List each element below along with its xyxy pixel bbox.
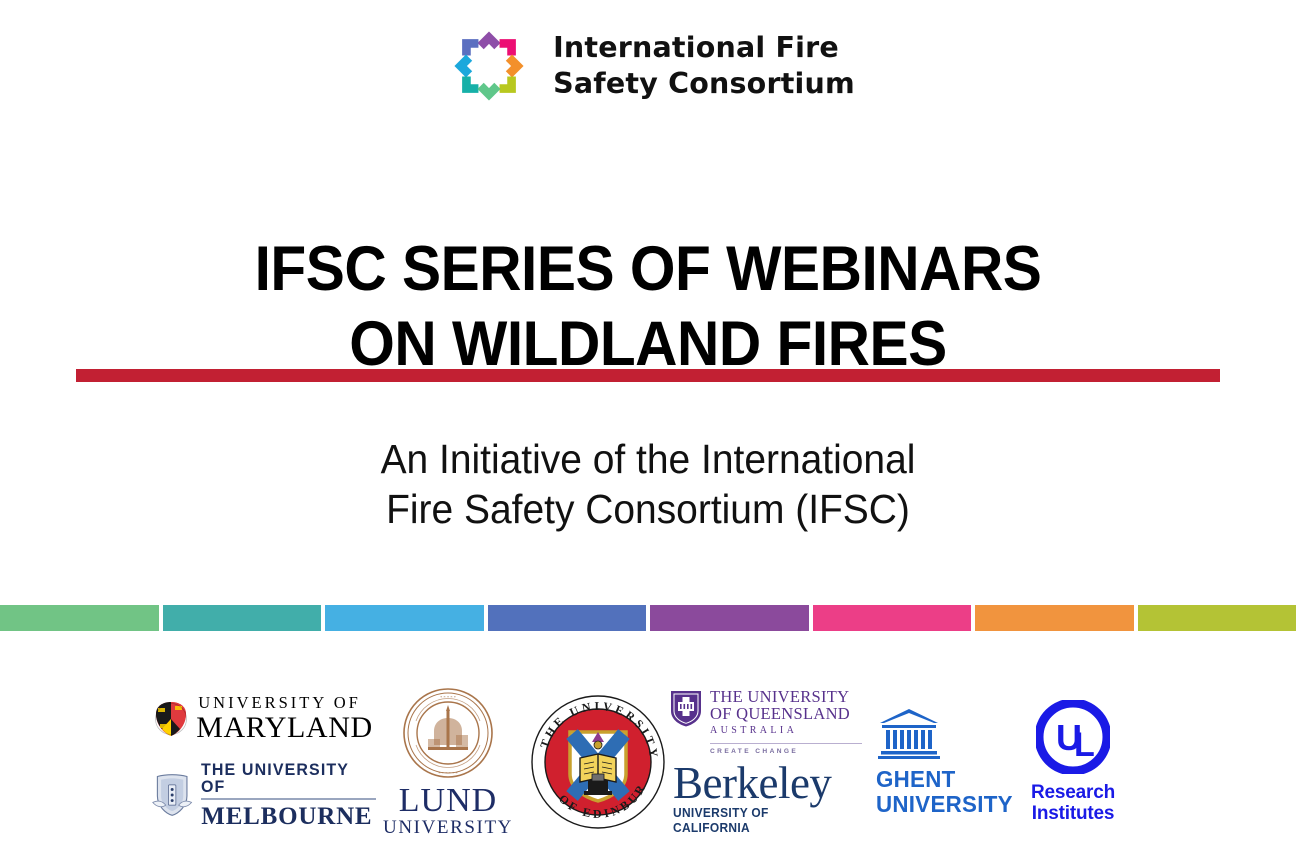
queensland-line3: AUSTRALIA	[710, 726, 797, 736]
color-strip-segment-green	[0, 605, 159, 631]
maryland-shield-icon	[153, 700, 189, 738]
partner-logo-lund-university: * * * * * * * * * * * LUND UNIVERSITY	[373, 687, 523, 838]
partner-logo-ul-research-institutes: U L Research Institutes	[1003, 700, 1143, 825]
berkeley-wordmark: Berkeley	[673, 763, 831, 804]
ul-circle-icon: U L	[1036, 700, 1110, 774]
color-strip-segment-yellow-green	[1138, 605, 1296, 631]
queensland-line2: OF QUEENSLAND	[710, 706, 850, 723]
maryland-line2: MARYLAND	[196, 713, 372, 743]
ifsc-star-logo-icon	[441, 18, 537, 114]
color-strip	[0, 605, 1296, 631]
svg-text:* * * * * *: * * * * * *	[438, 771, 458, 776]
partner-logo-group-2: THE UNIVERSITY OF QUEENSLAND AUSTRALIA C…	[673, 689, 858, 834]
color-strip-segment-orange	[975, 605, 1134, 631]
ghent-wordmark: GHENT UNIVERSITY	[876, 767, 1013, 817]
red-divider-rule	[76, 369, 1220, 382]
page-title: IFSC SERIES OF WEBINARS ON WILDLAND FIRE…	[45, 232, 1250, 381]
melbourne-line1: THE UNIVERSITY OF	[201, 761, 365, 795]
melbourne-crest-icon	[150, 770, 194, 820]
lund-seal-icon: * * * * * * * * * * *	[402, 687, 494, 779]
color-strip-segment-indigo-blue	[488, 605, 647, 631]
color-strip-segment-teal	[163, 605, 322, 631]
partner-logo-uc-berkeley: Berkeley UNIVERSITY OF CALIFORNIA	[673, 763, 858, 835]
partner-logo-university-of-queensland: THE UNIVERSITY OF QUEENSLAND AUSTRALIA C…	[669, 689, 862, 755]
ul-wordmark: Research Institutes	[1031, 782, 1115, 825]
color-strip-segment-light-blue	[325, 605, 484, 631]
melbourne-rule	[201, 798, 376, 800]
partner-logos: UNIVERSITY OF MARYLAND THE UNIVERSITY OF…	[0, 672, 1296, 852]
melbourne-line2: MELBOURNE	[201, 804, 376, 829]
color-strip-segment-purple	[650, 605, 809, 631]
partner-logo-ghent-university: GHENT UNIVERSITY	[858, 707, 1003, 817]
lund-line1: LUND	[399, 785, 497, 817]
partner-logo-university-of-edinburgh: THE UNIVERSITY OF EDINBURGH	[523, 692, 673, 832]
partner-logo-university-of-melbourne: THE UNIVERSITY OF MELBOURNE	[150, 761, 376, 829]
svg-text:L: L	[1074, 726, 1095, 764]
partner-logo-group-1: UNIVERSITY OF MARYLAND THE UNIVERSITY OF…	[153, 695, 373, 829]
berkeley-subline: UNIVERSITY OF CALIFORNIA	[673, 805, 843, 835]
edinburgh-crest-icon: THE UNIVERSITY OF EDINBURGH	[528, 692, 668, 832]
brand-wordmark: International Fire Safety Consortium	[553, 30, 855, 103]
color-strip-segment-pink	[813, 605, 972, 631]
queensland-rule	[710, 743, 862, 744]
partner-logo-university-of-maryland: UNIVERSITY OF MARYLAND	[153, 695, 372, 743]
queensland-shield-icon	[669, 689, 703, 727]
maryland-line1: UNIVERSITY OF	[196, 695, 361, 712]
ghent-building-icon	[876, 707, 942, 759]
page-subtitle: An Initiative of the International Fire …	[32, 434, 1263, 534]
lund-line2: UNIVERSITY	[383, 818, 513, 837]
queensland-tagline: CREATE CHANGE	[710, 748, 798, 755]
brand-lockup: International Fire Safety Consortium	[0, 18, 1296, 114]
